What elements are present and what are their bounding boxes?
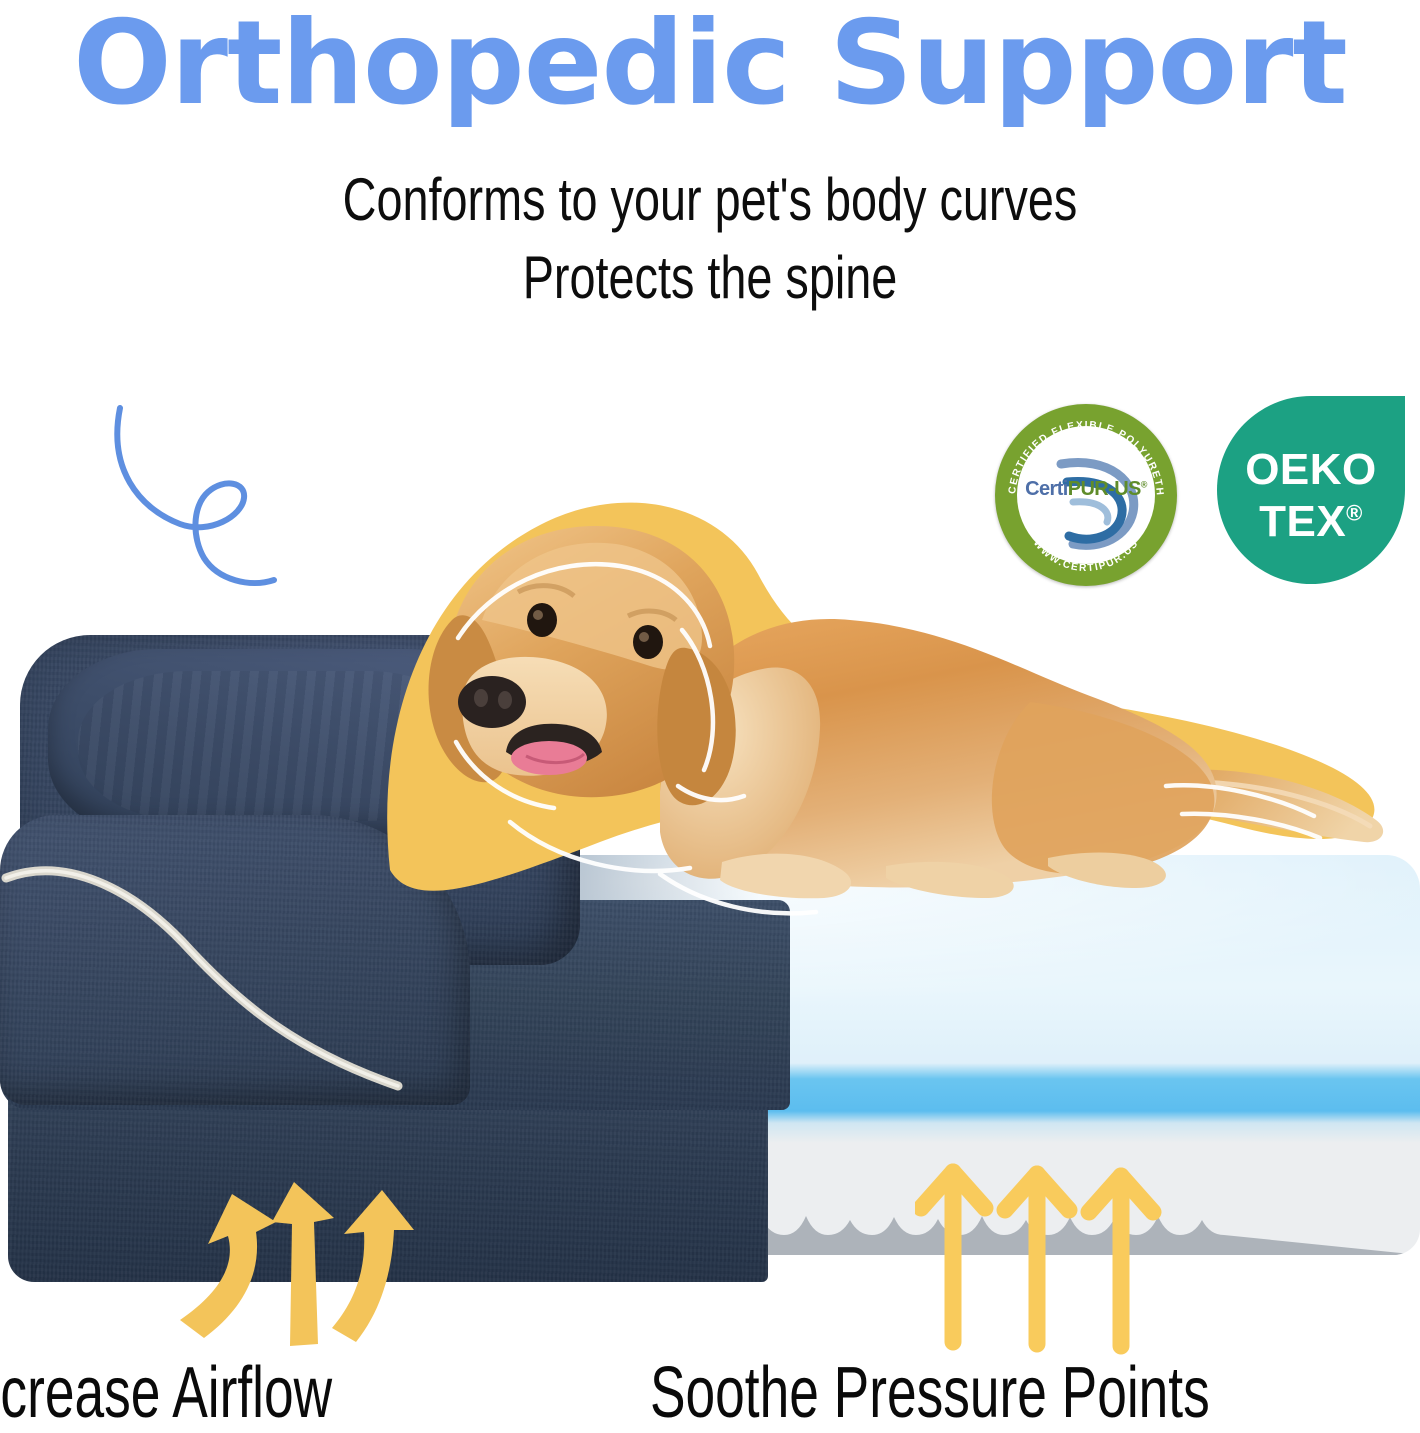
subtitle-line-1: Conforms to your pet's body curves — [156, 170, 1264, 230]
page-title: Orthopedic Support — [0, 6, 1420, 122]
airflow-arrows-icon — [170, 1170, 420, 1370]
dog-photo-group — [330, 470, 1390, 1030]
caption-increase-airflow: Increase Airflow — [0, 1356, 332, 1432]
infographic-canvas: Orthopedic Support Conforms to your pet'… — [0, 0, 1420, 1426]
pressure-relief-arrows-icon — [915, 1160, 1165, 1370]
caption-soothe-pressure-points: Soothe Pressure Points — [650, 1356, 1210, 1432]
golden-retriever-dog — [330, 470, 1390, 1030]
product-illustration — [0, 470, 1420, 1290]
subtitle-line-2: Protects the spine — [156, 248, 1264, 308]
